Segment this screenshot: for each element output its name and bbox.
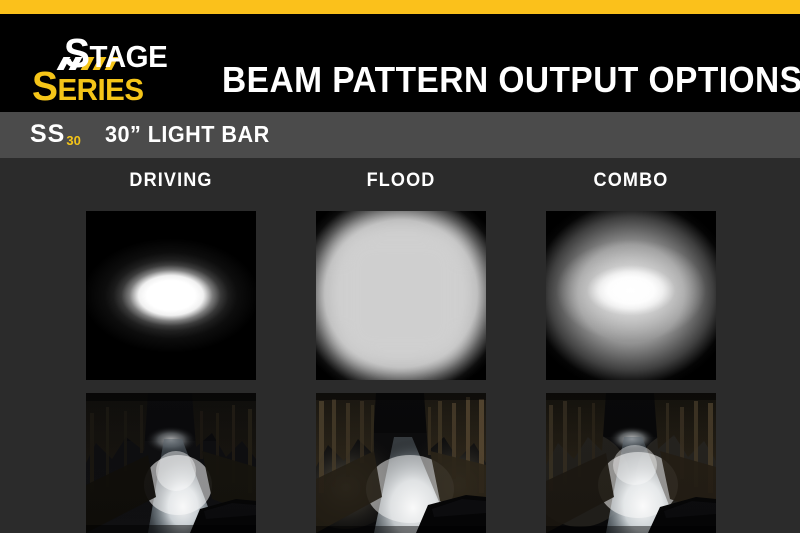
flood-beam-core xyxy=(335,228,468,363)
logo-series-rest: ERIES xyxy=(58,72,144,107)
product-subtitle: 30” LIGHT BAR xyxy=(105,123,270,146)
flood-road-photo xyxy=(316,393,486,533)
ss-badge-subscript: 30 xyxy=(66,133,80,148)
ss-badge-text: SS xyxy=(30,120,65,148)
driving-beam-glow xyxy=(86,211,256,380)
driving-road-illustration xyxy=(86,393,256,533)
logo-text-series: SERIES xyxy=(32,63,144,110)
flood-road-illustration xyxy=(316,393,486,533)
subheader-band: SS30 30” LIGHT BAR xyxy=(0,112,800,158)
column-label-flood: FLOOD xyxy=(320,171,482,190)
driving-road-photo xyxy=(86,393,256,533)
logo-series-cap: S xyxy=(32,63,58,109)
column-label-driving: DRIVING xyxy=(90,171,252,190)
driving-beam-pattern xyxy=(86,211,256,380)
flood-beam-pattern xyxy=(316,211,486,380)
column-label-combo: COMBO xyxy=(550,171,712,190)
combo-beam-glow xyxy=(546,211,716,380)
page-title: BEAM PATTERN OUTPUT OPTIONS xyxy=(222,62,800,98)
ss30-product-badge: SS30 xyxy=(30,122,80,150)
beam-comparison-body: DRIVING xyxy=(0,158,800,533)
combo-road-photo xyxy=(546,393,716,533)
header-band: STAGE SERIES BEAM PATTERN OUTPUT OPTIONS xyxy=(0,14,800,112)
combo-road-illustration xyxy=(546,393,716,533)
stage-series-logo: STAGE SERIES xyxy=(28,30,188,100)
combo-beam-pattern xyxy=(546,211,716,380)
top-accent-strip xyxy=(0,0,800,14)
